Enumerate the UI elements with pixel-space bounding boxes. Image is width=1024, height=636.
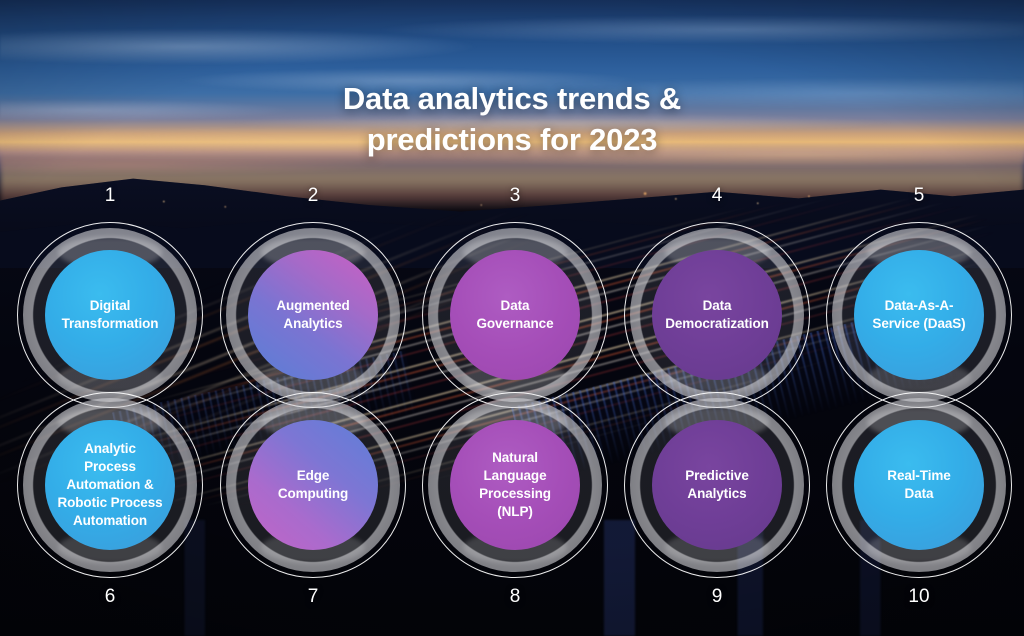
infographic-canvas: Data analytics trends & predictions for … <box>0 0 1024 636</box>
circle-outline <box>422 222 608 408</box>
trend-number-9: 9 <box>624 586 810 608</box>
title-line-1: Data analytics trends & <box>0 79 1024 120</box>
trend-circle-1[interactable]: Digital Transformation <box>17 222 203 408</box>
circle-outline <box>624 222 810 408</box>
trend-number-8: 8 <box>422 586 608 608</box>
trend-circle-10[interactable]: Real-Time Data <box>826 392 1012 578</box>
trend-number-5: 5 <box>826 185 1012 207</box>
trend-number-1: 1 <box>17 185 203 207</box>
circle-outline <box>422 392 608 578</box>
title-line-2: predictions for 2023 <box>0 120 1024 161</box>
trend-number-6: 6 <box>17 586 203 608</box>
trend-number-7: 7 <box>220 586 406 608</box>
trend-number-10: 10 <box>826 586 1012 608</box>
trend-number-2: 2 <box>220 185 406 207</box>
trend-circle-4[interactable]: Data Democratization <box>624 222 810 408</box>
circle-outline <box>220 392 406 578</box>
circle-outline <box>17 222 203 408</box>
circle-outline <box>624 392 810 578</box>
trend-circle-5[interactable]: Data-As-A- Service (DaaS) <box>826 222 1012 408</box>
page-title: Data analytics trends & predictions for … <box>0 79 1024 161</box>
trend-circle-9[interactable]: Predictive Analytics <box>624 392 810 578</box>
trend-circle-2[interactable]: Augmented Analytics <box>220 222 406 408</box>
circle-outline <box>17 392 203 578</box>
trend-circle-8[interactable]: Natural Language Processing (NLP) <box>422 392 608 578</box>
trend-circle-3[interactable]: Data Governance <box>422 222 608 408</box>
circle-outline <box>826 222 1012 408</box>
circle-outline <box>220 222 406 408</box>
trend-number-4: 4 <box>624 185 810 207</box>
trend-number-3: 3 <box>422 185 608 207</box>
trend-circle-6[interactable]: Analytic Process Automation & Robotic Pr… <box>17 392 203 578</box>
circle-outline <box>826 392 1012 578</box>
trend-circle-7[interactable]: Edge Computing <box>220 392 406 578</box>
